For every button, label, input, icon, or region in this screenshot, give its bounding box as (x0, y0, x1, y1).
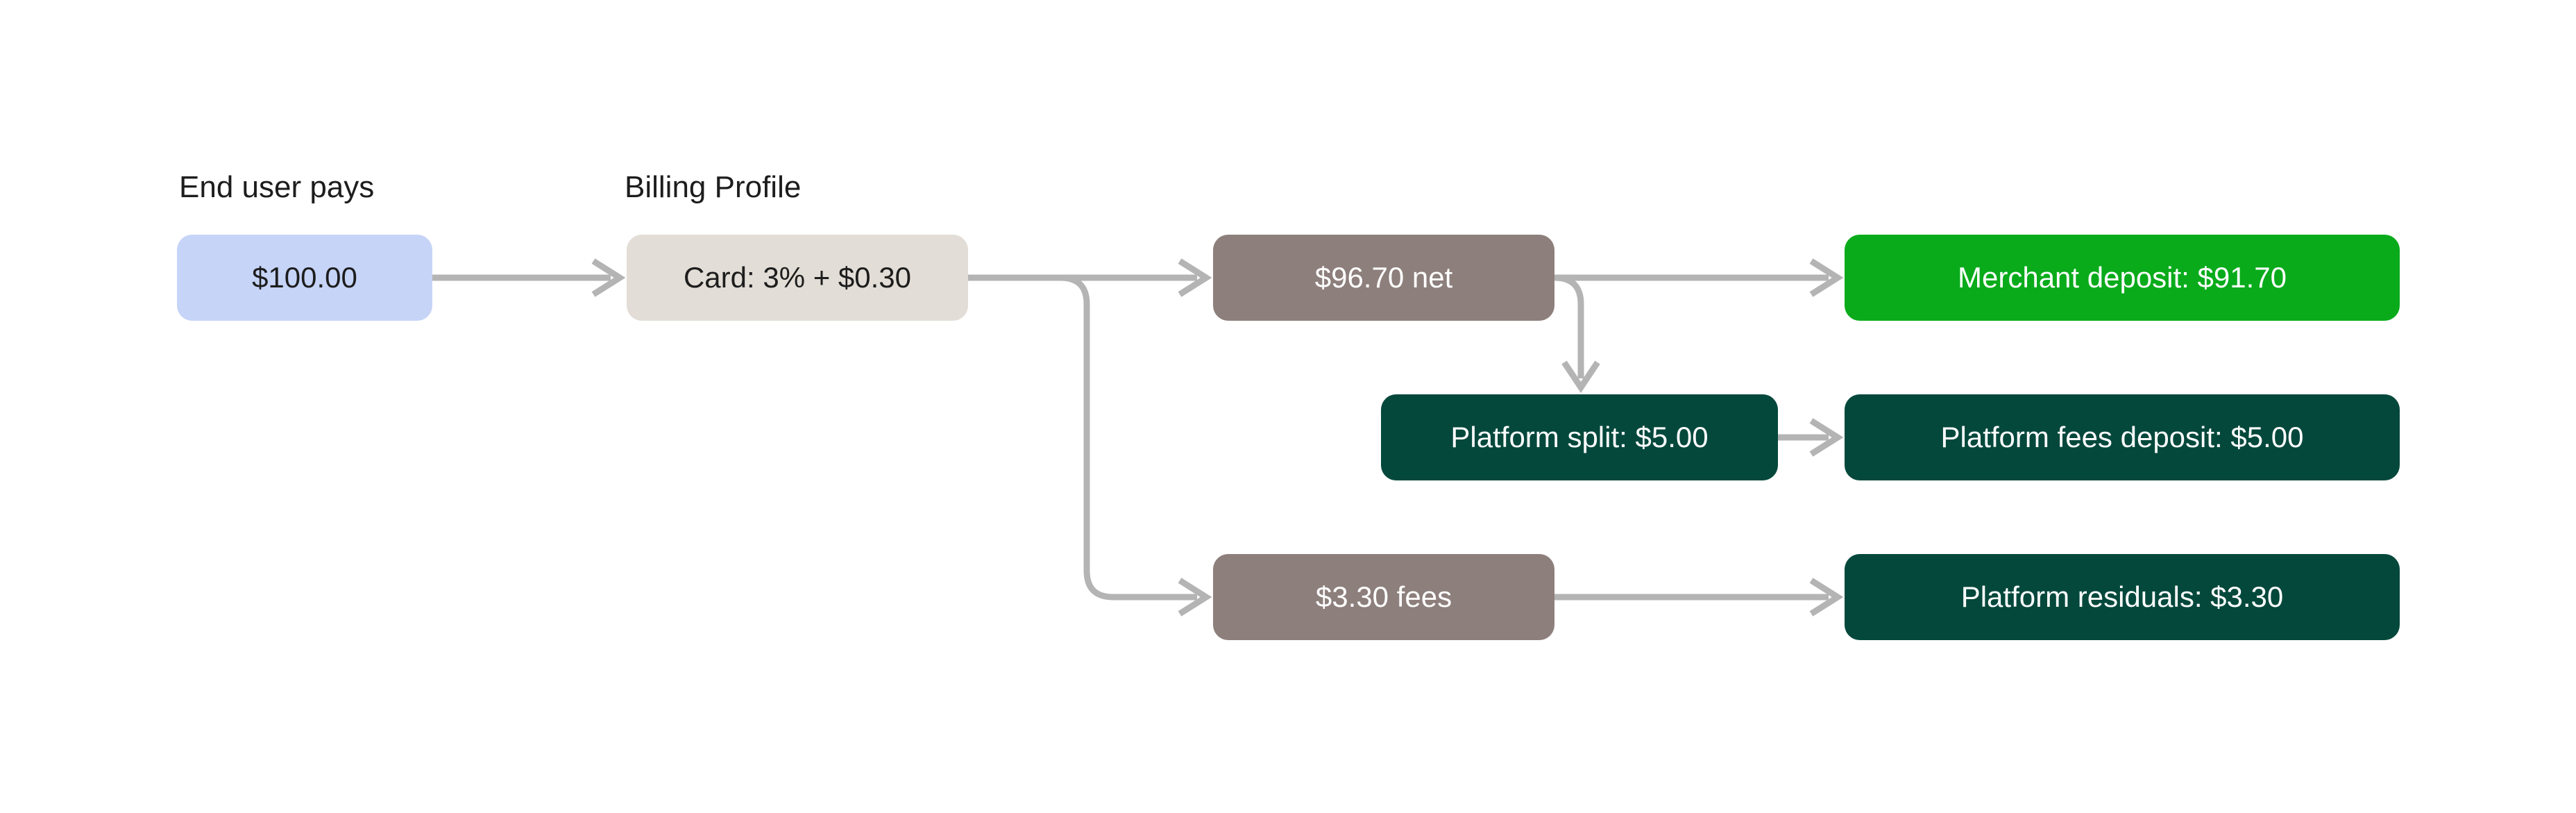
diagram-canvas: End user pays Billing Profile (0, 0, 2576, 813)
node-platform-fees-deposit[interactable]: Platform fees deposit: $5.00 (1845, 394, 2400, 480)
node-platform-split[interactable]: Platform split: $5.00 (1381, 394, 1778, 480)
node-platform-residuals[interactable]: Platform residuals: $3.30 (1845, 554, 2400, 640)
edge-end-user-to-billing-profile (432, 261, 620, 294)
edge-billing-profile-to-fees (968, 278, 1206, 614)
edge-billing-profile-to-net (968, 261, 1206, 294)
edge-net-to-platform-split (1554, 278, 1598, 387)
node-billing-profile-card-rate[interactable]: Card: 3% + $0.30 (627, 235, 968, 321)
caption-billing-profile: Billing Profile (625, 172, 801, 203)
node-merchant-deposit[interactable]: Merchant deposit: $91.70 (1845, 235, 2400, 321)
edge-net-to-merchant (1554, 261, 1838, 294)
node-end-user-amount[interactable]: $100.00 (177, 235, 432, 321)
edge-platform-split-to-fees-deposit (1778, 421, 1838, 454)
node-net-amount[interactable]: $96.70 net (1213, 235, 1554, 321)
edge-fees-to-residuals (1554, 580, 1838, 614)
node-fees-amount[interactable]: $3.30 fees (1213, 554, 1554, 640)
caption-end-user-pays: End user pays (179, 172, 374, 203)
